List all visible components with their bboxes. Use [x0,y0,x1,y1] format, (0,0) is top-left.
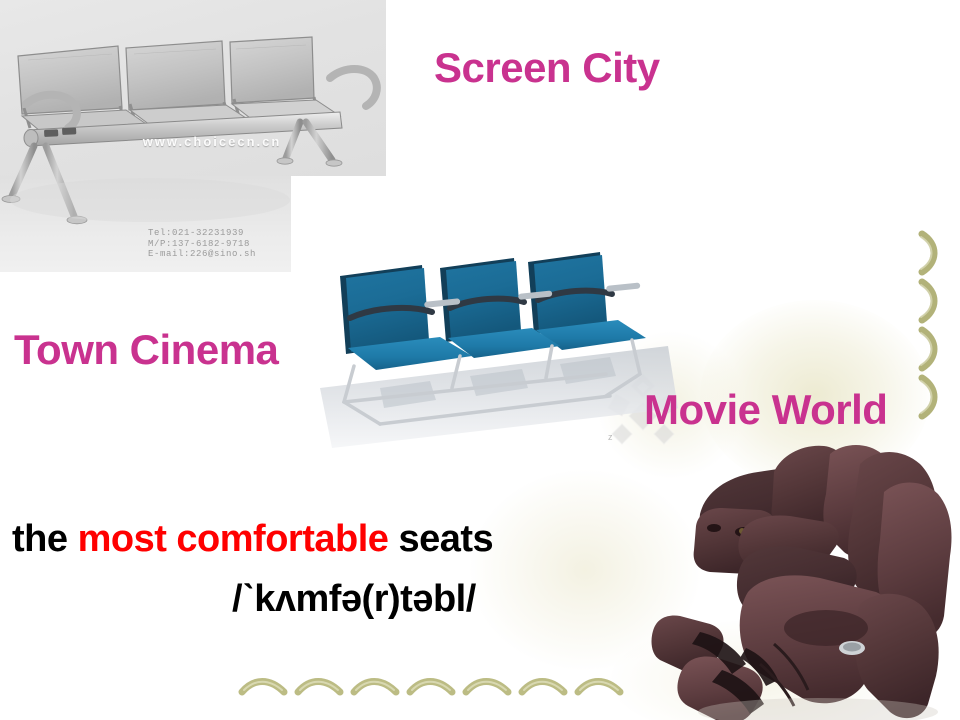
grey-bench-photo: www.choicecn.cn Tel:021-32231939M/P:137-… [0,0,386,272]
wavy-line-bottom-decoration [236,668,640,708]
phrase-suffix: seats [388,518,493,560]
label-movie-world: Movie World [644,386,887,434]
brown-recliner-photo [648,432,960,720]
phrase-most-comfortable-seats: the most comfortable seats [12,518,493,561]
photo-watermark-text: www.choicecn.cn [112,134,312,149]
phrase-highlight: most comfortable [78,518,389,560]
blue-bench-photo [310,238,678,448]
label-town-cinema: Town Cinema [14,326,278,374]
photo-contact-text: Tel:021-32231939M/P:137-6182-9718E-mail:… [148,228,256,260]
phonetic-transcription: /ˋkʌmfə(r)təbl/ [232,578,476,621]
phrase-prefix: the [12,518,78,560]
slide-canvas: z [0,0,960,720]
wavy-ribbon-vertical-decoration [908,228,954,440]
label-screen-city: Screen City [434,44,660,92]
